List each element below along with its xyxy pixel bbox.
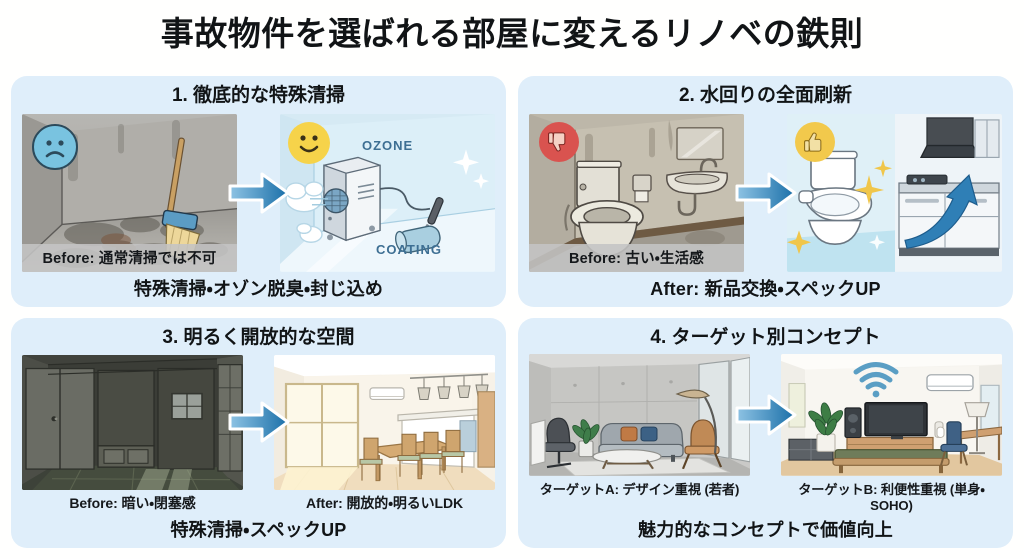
card-3-footer: 特殊清掃・スペックUP [22,516,495,542]
page-title: 事故物件を選ばれる部屋に変えるリノベの鉄則 [0,0,1024,48]
air-conditioner-icon [927,375,973,391]
card-1-footer: 特殊清掃・オゾン脱臭・封じ込め [22,275,495,301]
card-4-captions: ターゲットA: デザイン重視 (若者) ターゲットB: 利便性重視 (単身・SO… [529,479,1002,513]
card-1: 1. 徹底的な特殊清掃 [11,76,506,307]
wifi-glyph [853,361,899,399]
card-4-before-caption: ターゲットA: デザイン重視 (若者) [529,479,750,513]
card-1-before-image: Before: 通常清掃では不可 [22,114,237,272]
card-2-before-caption: Before: 古い・生活感 [529,244,744,272]
card-4-after-caption: ターゲットB: 利便性重視 (単身・SOHO) [781,479,1002,513]
bright-ldk-illustration [274,355,495,490]
dark-tatami-room-illustration [22,355,243,490]
infographic-page: 事故物件を選ばれる部屋に変えるリノベの鉄則 1. 徹底的な特殊清掃 [0,0,1024,559]
card-2-image-pair: Before: 古い・生活感 [529,114,1002,272]
card-3-image-pair [22,355,495,490]
card-1-before-caption: Before: 通常清掃では不可 [22,244,237,272]
card-3-before-image [22,355,243,490]
card-3-captions: Before: 暗い・閉塞感 After: 開放的・明るいLDK [22,493,495,513]
thumbs-down-icon [539,122,579,162]
card-4-title: 4. ターゲット別コンセプト [529,326,1002,350]
card-2-after-image [787,114,1002,272]
ozone-label: OZONE [362,138,413,153]
wifi-icon [853,360,899,400]
thumbs-up-glyph [802,129,828,155]
card-4: 4. ターゲット別コンセプト [518,318,1013,549]
card-3-before-caption: Before: 暗い・閉塞感 [22,493,243,513]
thumbs-down-glyph [546,129,572,155]
smile-face-icon [288,122,330,164]
thumbs-up-icon [795,122,835,162]
card-1-title: 1. 徹底的な特殊清掃 [22,84,495,109]
television-icon [865,403,927,440]
card-2-title: 2. 水回りの全面刷新 [529,84,1002,109]
toilet-paper-icon [633,175,651,202]
card-1-after-image: OZONE COATING [280,114,495,272]
sad-face-icon [32,124,78,170]
card-3-after-image [274,355,495,490]
smile-face-glyph [289,123,329,163]
cards-grid: 1. 徹底的な特殊清掃 [11,76,1013,548]
card-3: 3. 明るく開放的な空間 [11,318,506,549]
card-1-image-pair: Before: 通常清掃では不可 [22,114,495,272]
coating-label: COATING [376,242,442,257]
card-2: 2. 水回りの全面刷新 [518,76,1013,307]
card-4-image-pair [529,354,1002,476]
card-2-before-image: Before: 古い・生活感 [529,114,744,272]
sad-face-glyph [35,127,75,167]
card-4-before-image [529,354,750,476]
card-4-footer: 魅力的なコンセプトで価値向上 [529,516,1002,542]
designer-living-room-illustration [529,354,750,476]
card-4-after-image [781,354,1002,476]
card-2-footer: After: 新品交換・スペックUP [529,275,1002,301]
card-3-after-caption: After: 開放的・明るいLDK [274,493,495,513]
card-3-title: 3. 明るく開放的な空間 [22,326,495,350]
